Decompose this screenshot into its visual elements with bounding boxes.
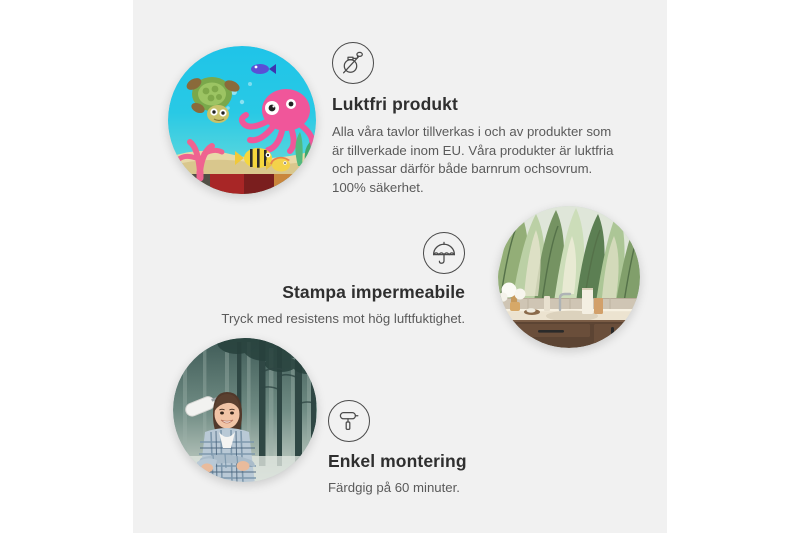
no-odour-perfume-bottle-icon xyxy=(332,42,374,84)
underwater-sea-life-mural-thumbnail xyxy=(168,46,316,194)
feature-waterproof-icon-row xyxy=(210,232,465,274)
umbrella-icon xyxy=(423,232,465,274)
feature-easy-mounting-icon-row xyxy=(328,400,578,442)
feature-easy-mounting-description: Färdgig på 60 minuter. xyxy=(328,479,578,498)
feature-waterproof-title: Stampa impermeabile xyxy=(210,282,465,304)
feature-odourless: Luktfri produkt Alla våra tavlor tillver… xyxy=(332,42,632,198)
feature-waterproof: Stampa impermeabile Tryck med resistens … xyxy=(210,232,465,329)
feature-odourless-title: Luktfri produkt xyxy=(332,94,632,116)
feature-easy-mounting-title: Enkel montering xyxy=(328,451,578,473)
feature-easy-mounting: Enkel montering Färdgig på 60 minuter. xyxy=(328,400,578,498)
promo-infographic: Luktfri produkt Alla våra tavlor tillver… xyxy=(0,0,800,533)
bathroom-tropical-leaf-wallpaper-thumbnail xyxy=(498,206,640,348)
bathroom-illustration xyxy=(498,206,640,348)
woman-with-paint-roller-forest-mural-thumbnail xyxy=(173,338,317,482)
feature-waterproof-description: Tryck med resistens mot hög luftfuktighe… xyxy=(210,310,465,329)
feature-odourless-icon-row xyxy=(332,42,632,84)
feature-odourless-description: Alla våra tavlor tillverkas i och av pro… xyxy=(332,123,617,198)
underwater-illustration xyxy=(168,46,316,194)
paint-roller-icon xyxy=(328,400,370,442)
woman-forest-illustration xyxy=(173,338,317,482)
